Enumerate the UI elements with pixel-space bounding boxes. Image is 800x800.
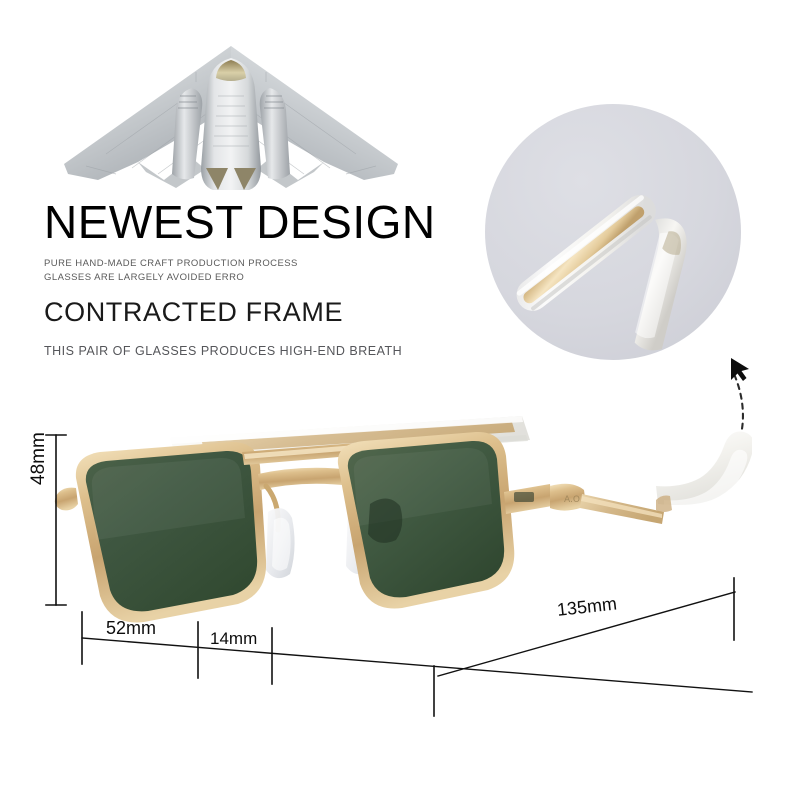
secondary-title: CONTRACTED FRAME [44, 296, 474, 328]
detail-inset-circle [485, 104, 741, 360]
dimension-label-lens-height: 48mm [28, 432, 50, 485]
tagline-text: THIS PAIR OF GLASSES PRODUCES HIGH-END B… [44, 344, 474, 358]
page-title: NEWEST DESIGN [44, 196, 474, 248]
svg-text:A.O: A.O [564, 495, 580, 505]
subtitle-line-1: PURE HAND-MADE CRAFT PRODUCTION PROCESS [44, 257, 474, 271]
subtitle-group: PURE HAND-MADE CRAFT PRODUCTION PROCESS … [44, 257, 474, 285]
dimension-label-lens-width: 52mm [106, 618, 156, 639]
headline-block: NEWEST DESIGN PURE HAND-MADE CRAFT PRODU… [44, 196, 474, 358]
dimension-label-bridge-width: 14mm [210, 629, 257, 649]
product-detail-page: NEWEST DESIGN PURE HAND-MADE CRAFT PRODU… [0, 0, 800, 800]
product-image-sunglasses: A.O [52, 408, 752, 708]
stealth-bomber-icon [46, 22, 416, 202]
subtitle-line-2: GLASSES ARE LARGELY AVOIDED ERRO [44, 271, 474, 285]
